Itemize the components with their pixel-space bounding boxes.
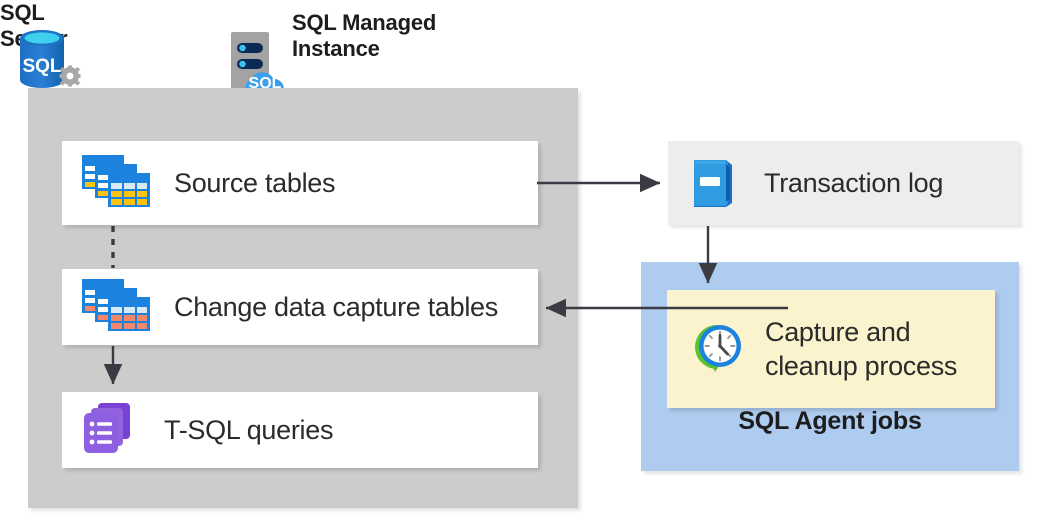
capture-process-label: Capture and cleanup process [765, 315, 957, 383]
card-tsql-queries-label: T-SQL queries [164, 414, 333, 446]
box-capture-and-cleanup-process[interactable]: Capture and cleanup process [667, 290, 995, 408]
capture-process-label-line2: cleanup process [765, 351, 957, 381]
card-change-data-capture-tables[interactable]: Change data capture tables [62, 269, 538, 345]
stacked-tables-salmon-icon [80, 275, 152, 340]
card-cdc-tables-label: Change data capture tables [174, 291, 498, 323]
capture-process-label-line1: Capture and [765, 317, 910, 347]
svg-text:SQL: SQL [22, 56, 61, 77]
card-tsql-queries[interactable]: T-SQL queries [62, 392, 538, 468]
header-label-sql-managed-instance: SQL Managed Instance [292, 10, 512, 62]
card-source-tables-label: Source tables [174, 167, 335, 199]
clock-refresh-icon [689, 319, 745, 380]
box-transaction-log[interactable]: Transaction log [668, 141, 1019, 225]
blue-book-icon [686, 152, 742, 215]
sql-managed-instance-icon: SQL [221, 26, 291, 94]
sql-agent-jobs-title: SQL Agent jobs [641, 407, 1019, 436]
stacked-tables-yellow-icon [80, 151, 152, 216]
purple-query-list-icon [80, 399, 142, 462]
card-source-tables[interactable]: Source tables [62, 141, 538, 225]
sql-server-database-icon: SQL [16, 26, 82, 94]
transaction-log-label: Transaction log [764, 167, 943, 199]
header-label-mi-line1: SQL Managed [292, 10, 512, 36]
header-label-sql-server-line1: SQL [0, 0, 67, 26]
header-label-mi-line2: Instance [292, 36, 512, 62]
